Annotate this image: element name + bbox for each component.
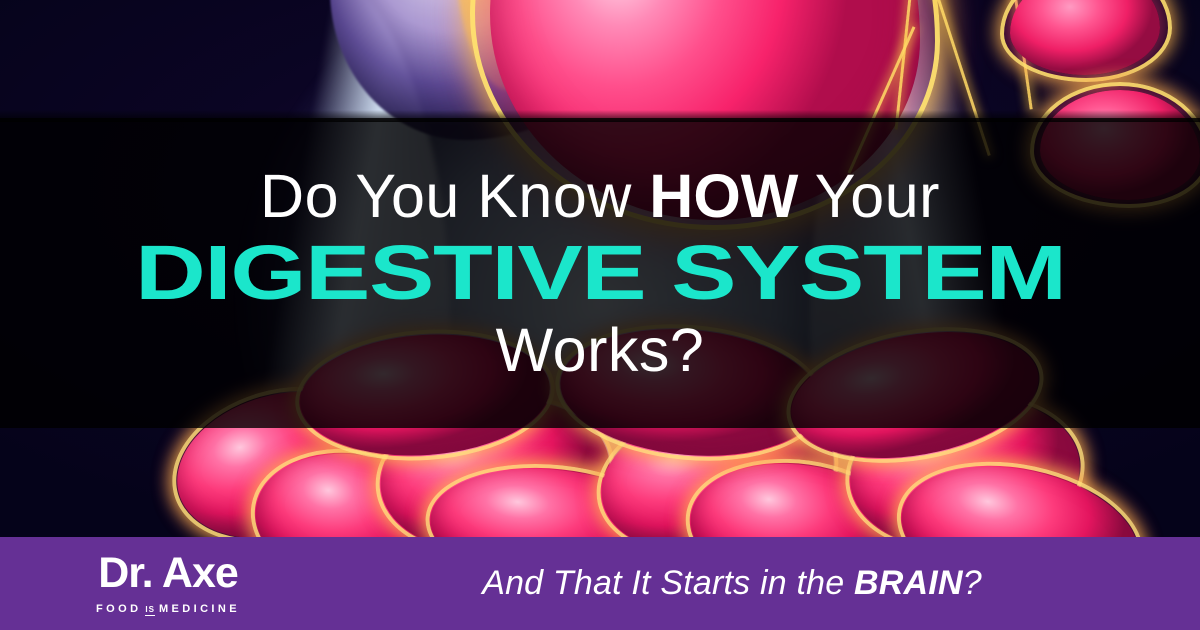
banner-root: Do You Know HOW Your DIGESTIVE SYSTEM Wo…: [0, 0, 1200, 630]
headline-line1-part2: Your: [798, 162, 940, 230]
logo-wordmark: Dr. Axe: [98, 552, 238, 595]
headline-line1-emphasis: HOW: [649, 162, 798, 230]
headline-block: Do You Know HOW Your DIGESTIVE SYSTEM Wo…: [0, 118, 1200, 428]
footer-tagline: And That It Starts in the BRAIN?: [298, 564, 1200, 603]
headline-line-1: Do You Know HOW Your: [260, 166, 940, 227]
footer-bar: Dr. Axe FOOD IS MEDICINE And That It Sta…: [0, 537, 1200, 630]
headline-line1-part1: Do You Know: [260, 162, 649, 230]
dr-axe-logo[interactable]: Dr. Axe FOOD IS MEDICINE: [38, 552, 298, 616]
footer-tagline-emphasis: BRAIN: [854, 564, 963, 602]
headline-line-3: Works?: [496, 320, 705, 381]
logo-tagline-medicine: MEDICINE: [159, 604, 240, 615]
logo-tagline: FOOD IS MEDICINE: [96, 604, 240, 616]
footer-tagline-part1: And That It Starts in the: [482, 564, 854, 602]
logo-tagline-is: IS: [145, 606, 155, 616]
logo-tagline-food: FOOD: [96, 604, 141, 615]
headline-line-2: DIGESTIVE SYSTEM: [135, 235, 1066, 312]
footer-tagline-part2: ?: [963, 564, 982, 602]
